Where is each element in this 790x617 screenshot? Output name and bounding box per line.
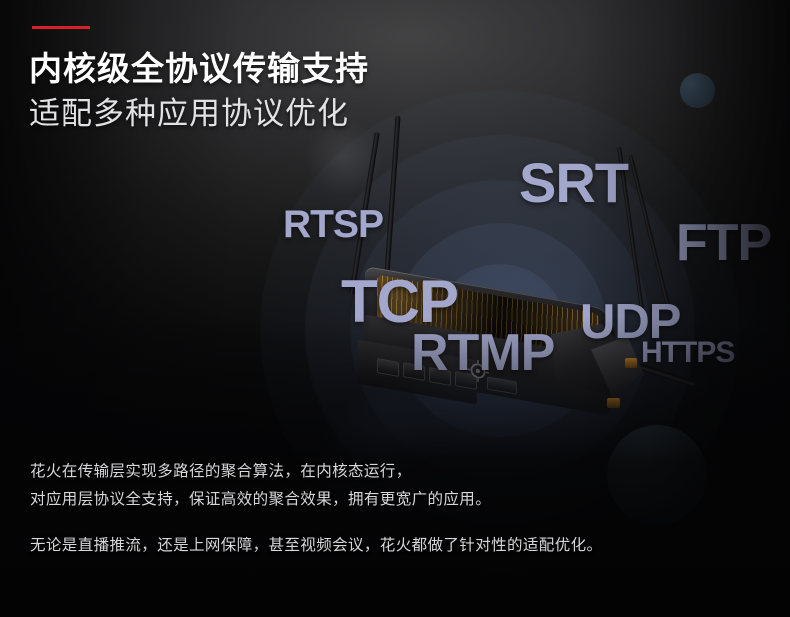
copy-paragraph2-line1: 无论是直播推流，还是上网保障，甚至视频会议，花火都做了针对性的适配优化。: [30, 532, 770, 560]
copy-spacer: [30, 514, 770, 532]
page-title-line2: 适配多种应用协议优化: [29, 88, 349, 133]
page-title-line1: 内核级全协议传输支持: [29, 42, 369, 90]
copy-paragraph1-line1: 花火在传输层实现多路径的聚合算法，在内核态运行，: [30, 458, 770, 486]
accent-bar: [32, 26, 90, 29]
promo-banner: RTSP SRT FTP TCP RTMP UDP HTTPS 内核级全协议传输…: [0, 0, 790, 617]
protocol-label-rtsp: RTSP: [283, 205, 383, 244]
body-copy: 花火在传输层实现多路径的聚合算法，在内核态运行， 对应用层协议全支持，保证高效的…: [30, 458, 770, 560]
copy-paragraph1-line2: 对应用层协议全支持，保证高效的聚合效果，拥有更宽广的应用。: [30, 486, 770, 514]
